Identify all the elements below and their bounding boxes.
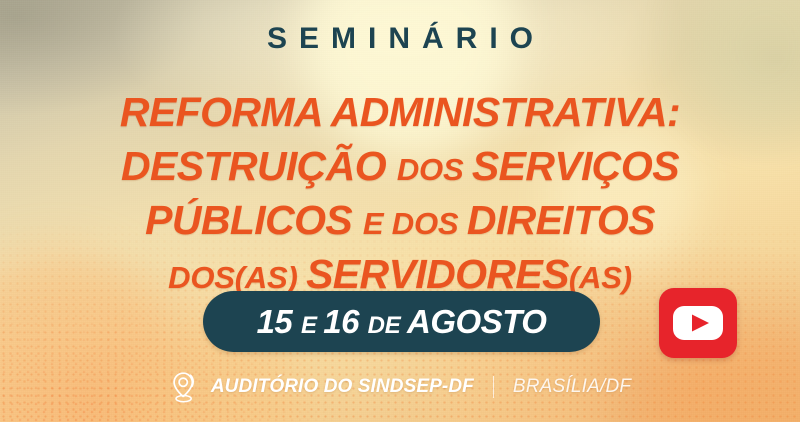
headline: REFORMA ADMINISTRATIVA:DESTRUIÇÃO DOS SE… (0, 90, 800, 306)
date-segment: 15 (257, 303, 301, 340)
headline-line: DESTRUIÇÃO DOS SERVIÇOS (0, 144, 800, 198)
headline-segment: SERVIÇOS (472, 143, 679, 189)
date-segment: E (301, 312, 323, 339)
venue-place: AUDITÓRIO DO SINDSEP-DF (211, 376, 474, 398)
date-segment: DE (368, 312, 407, 339)
headline-segment: DOS(AS) (168, 260, 306, 295)
map-pin-icon (169, 370, 201, 404)
venue-city: BRASÍLIA/DF (513, 376, 631, 398)
headline-segment: (AS) (569, 260, 632, 295)
date-text: 15 E 16 DE AGOSTO (257, 305, 547, 338)
headline-segment: DIREITOS (467, 197, 655, 243)
kicker-seminario: SEMINÁRIO (0, 24, 800, 54)
headline-segment: DESTRUIÇÃO (121, 143, 397, 189)
seminar-banner: SEMINÁRIO REFORMA ADMINISTRATIVA:DESTRUI… (0, 0, 800, 422)
headline-segment: REFORMA ADMINISTRATIVA: (120, 89, 680, 135)
headline-segment: PÚBLICOS (145, 197, 363, 243)
venue-divider (493, 376, 494, 398)
headline-line: PÚBLICOS E DOS DIREITOS (0, 198, 800, 252)
date-segment: 16 (323, 303, 367, 340)
date-pill: 15 E 16 DE AGOSTO (203, 291, 600, 352)
headline-segment: DOS (397, 152, 472, 187)
youtube-button[interactable] (659, 288, 737, 358)
venue-line: AUDITÓRIO DO SINDSEP-DF BRASÍLIA/DF (0, 370, 800, 404)
date-segment: AGOSTO (407, 303, 546, 340)
banner-content: SEMINÁRIO REFORMA ADMINISTRATIVA:DESTRUI… (0, 0, 800, 422)
headline-segment: E DOS (363, 206, 467, 241)
youtube-play-icon (672, 305, 724, 341)
headline-line: REFORMA ADMINISTRATIVA: (0, 90, 800, 144)
